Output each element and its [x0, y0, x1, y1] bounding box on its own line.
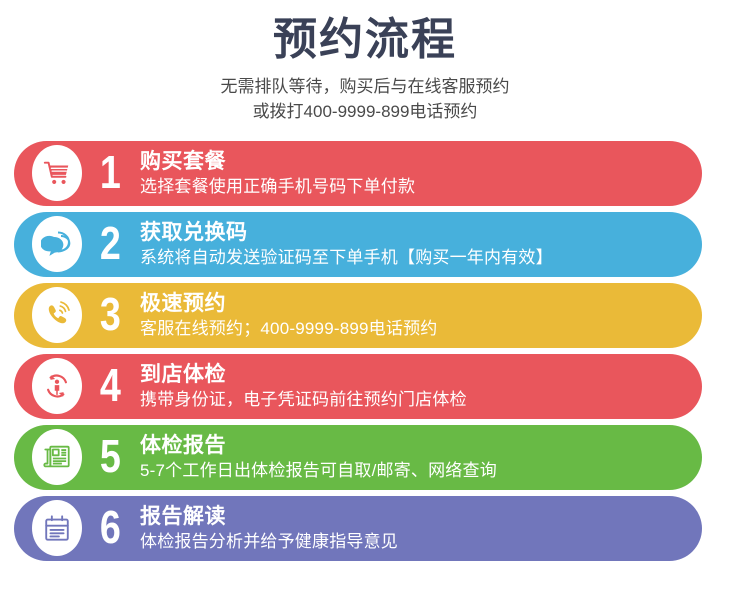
step-text: 报告解读 体检报告分析并给予健康指导意见 — [140, 505, 398, 552]
step-description: 系统将自动发送验证码至下单手机【购买一年内有效】 — [140, 247, 553, 268]
speech-bubbles-glyph — [41, 228, 73, 260]
page-title: 预约流程 — [0, 14, 730, 66]
step-text: 获取兑换码 系统将自动发送验证码至下单手机【购买一年内有效】 — [140, 221, 553, 268]
page-subtitle: 无需排队等待，购买后与在线客服预约 或拨打400-9999-899电话预约 — [0, 74, 730, 125]
page-subtitle-line-1: 无需排队等待，购买后与在线客服预约 — [0, 74, 730, 100]
step-text: 到店体检 携带身份证，电子凭证码前往预约门店体检 — [140, 363, 467, 410]
step-number: 6 — [92, 504, 128, 552]
newspaper-report-icon — [32, 429, 82, 485]
step-text: 购买套餐 选择套餐使用正确手机号码下单付款 — [140, 150, 415, 197]
step-title: 体检报告 — [140, 434, 497, 458]
step-row[interactable]: 1 购买套餐 选择套餐使用正确手机号码下单付款 — [14, 141, 702, 206]
step-title: 购买套餐 — [140, 150, 415, 174]
step-row[interactable]: 5 体检报告 5-7个工作日出体检报告可自取/邮寄、网络查询 — [14, 425, 702, 490]
step-title: 获取兑换码 — [140, 221, 553, 245]
step-row[interactable]: 6 报告解读 体检报告分析并给予健康指导意见 — [14, 496, 702, 561]
newspaper-report-glyph — [42, 442, 72, 472]
speech-bubbles-icon — [32, 216, 82, 272]
page-subtitle-line-2: 或拨打400-9999-899电话预约 — [0, 99, 730, 125]
step-title: 报告解读 — [140, 505, 398, 529]
step-number: 3 — [92, 291, 128, 339]
clipboard-notepad-glyph — [42, 513, 72, 543]
appointment-process-infographic: 预约流程 无需排队等待，购买后与在线客服预约 或拨打400-9999-899电话… — [0, 0, 730, 612]
step-title: 到店体检 — [140, 363, 467, 387]
step-number: 1 — [92, 149, 128, 197]
step-description: 体检报告分析并给予健康指导意见 — [140, 531, 398, 552]
phone-call-glyph — [42, 300, 72, 330]
step-number: 4 — [92, 362, 128, 410]
step-row[interactable]: 4 到店体检 携带身份证，电子凭证码前往预约门店体检 — [14, 354, 702, 419]
shopping-cart-icon — [32, 145, 82, 201]
step-title: 极速预约 — [140, 292, 437, 316]
person-refresh-icon — [32, 358, 82, 414]
header: 预约流程 无需排队等待，购买后与在线客服预约 或拨打400-9999-899电话… — [0, 0, 730, 125]
shopping-cart-glyph — [42, 158, 72, 188]
step-row[interactable]: 3 极速预约 客服在线预约；400-9999-899电话预约 — [14, 283, 702, 348]
step-description: 携带身份证，电子凭证码前往预约门店体检 — [140, 389, 467, 410]
step-number: 2 — [92, 220, 128, 268]
step-row[interactable]: 2 获取兑换码 系统将自动发送验证码至下单手机【购买一年内有效】 — [14, 212, 702, 277]
person-refresh-glyph — [42, 371, 72, 401]
step-number: 5 — [92, 433, 128, 481]
step-description: 选择套餐使用正确手机号码下单付款 — [140, 176, 415, 197]
step-text: 极速预约 客服在线预约；400-9999-899电话预约 — [140, 292, 437, 339]
steps-list: 1 购买套餐 选择套餐使用正确手机号码下单付款 2 获取兑换码 系统 — [0, 141, 730, 561]
clipboard-notepad-icon — [32, 500, 82, 556]
phone-call-icon — [32, 287, 82, 343]
step-text: 体检报告 5-7个工作日出体检报告可自取/邮寄、网络查询 — [140, 434, 497, 481]
step-description: 客服在线预约；400-9999-899电话预约 — [140, 318, 437, 339]
step-description: 5-7个工作日出体检报告可自取/邮寄、网络查询 — [140, 460, 497, 481]
